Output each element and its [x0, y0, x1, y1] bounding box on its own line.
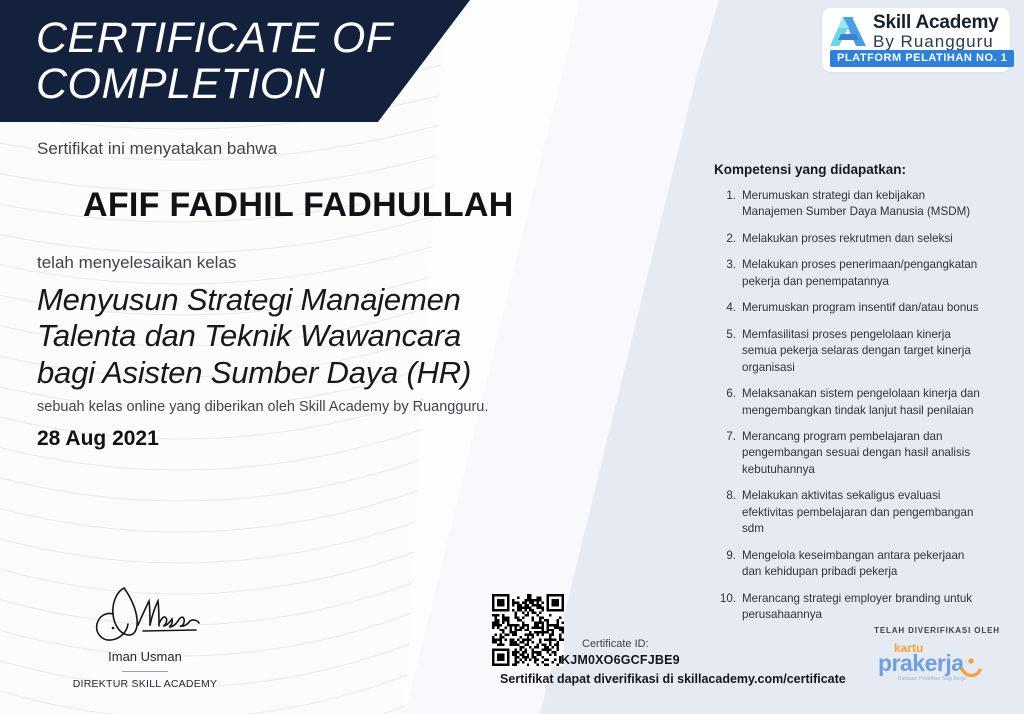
competency-text: Merumuskan program insentif dan/atau bon…	[742, 300, 982, 316]
competency-item: 2.Melakukan proses rekrutmen dan seleksi	[714, 231, 982, 247]
competency-item: 6.Melaksanakan sistem pengelolaan kinerj…	[714, 386, 982, 419]
competencies-heading: Kompetensi yang didapatkan:	[714, 162, 982, 177]
verification-text: Sertifikat dapat diverifikasi di skillac…	[500, 672, 846, 686]
competency-number: 4.	[714, 300, 742, 316]
handwritten-signature-icon	[80, 578, 210, 646]
competencies-list: 1.Merumuskan strategi dan kebijakan Mana…	[714, 188, 982, 624]
competency-text: Merumuskan strategi dan kebijakan Manaje…	[742, 188, 982, 221]
certificate-id-value: KJM0XO6GCFJBE9	[561, 653, 680, 667]
course-title: Menyusun Strategi Manajemen Talenta dan …	[37, 282, 507, 391]
prakerja-section: TELAH DIVERIFIKASI OLEH kartu prakerja B…	[862, 626, 1012, 683]
verified-by-label: TELAH DIVERIFIKASI OLEH	[862, 626, 1012, 635]
competency-number: 1.	[714, 188, 742, 221]
competency-text: Melakukan proses penerimaan/pengangkatan…	[742, 257, 982, 290]
competency-item: 3.Melakukan proses penerimaan/pengangkat…	[714, 257, 982, 290]
competency-text: Melakukan proses rekrutmen dan seleksi	[742, 231, 982, 247]
completed-label: telah menyelesaikan kelas	[37, 253, 236, 273]
signatory-role: DIREKTUR SKILL ACADEMY	[60, 678, 230, 690]
recipient-name: AFIF FADHIL FADHULLAH	[83, 186, 514, 225]
competency-item: 5.Memfasilitasi proses pengelolaan kiner…	[714, 327, 982, 376]
signature-divider	[122, 671, 168, 672]
signatory-name: Iman Usman	[60, 649, 230, 664]
competency-item: 10.Merancang strategi employer branding …	[714, 591, 982, 624]
competency-text: Merancang strategi employer branding unt…	[742, 591, 982, 624]
competency-number: 5.	[714, 327, 742, 376]
competency-number: 9.	[714, 548, 742, 581]
page-title-line2: COMPLETION	[36, 62, 456, 108]
skill-academy-a-mark-icon	[830, 15, 866, 48]
competency-text: Merancang program pembelajaran dan penge…	[742, 429, 982, 478]
competency-text: Melakukan aktivitas sekaligus evaluasi e…	[742, 488, 982, 537]
competency-number: 6.	[714, 386, 742, 419]
logo-name-line2: By Ruangguru	[873, 33, 999, 50]
page-title: CERTIFICATE OF COMPLETION	[36, 16, 456, 107]
certificate-id-label: Certificate ID:	[582, 638, 649, 650]
competency-number: 8.	[714, 488, 742, 537]
competency-text: Memfasilitasi proses pengelolaan kinerja…	[742, 327, 982, 376]
kartu-prakerja-logo-icon: kartu prakerja Bantuan Pelatihan Siap Ke…	[876, 639, 998, 683]
competency-item: 4.Merumuskan program insentif dan/atau b…	[714, 300, 982, 316]
qr-code-icon[interactable]	[492, 594, 564, 666]
svg-text:prakerja: prakerja	[878, 650, 964, 676]
platform-badge: PLATFORM PELATIHAN NO. 1	[830, 50, 1014, 67]
competency-item: 1.Merumuskan strategi dan kebijakan Mana…	[714, 188, 982, 221]
svg-text:Bantuan Pelatihan Siap Kerja: Bantuan Pelatihan Siap Kerja	[898, 676, 966, 682]
competency-item: 7.Merancang program pembelajaran dan pen…	[714, 429, 982, 478]
signature-block: Iman Usman DIREKTUR SKILL ACADEMY	[60, 578, 230, 690]
logo-row: Skill Academy By Ruangguru	[830, 13, 999, 50]
certificate-date: 28 Aug 2021	[37, 427, 159, 451]
competency-number: 3.	[714, 257, 742, 290]
competency-item: 8.Melakukan aktivitas sekaligus evaluasi…	[714, 488, 982, 537]
competency-text: Mengelola keseimbangan antara pekerjaan …	[742, 548, 982, 581]
intro-text: Sertifikat ini menyatakan bahwa	[37, 139, 277, 159]
competency-number: 2.	[714, 231, 742, 247]
certificate-page: CERTIFICATE OF COMPLETION Skill Academy …	[0, 0, 1024, 714]
page-title-line1: CERTIFICATE OF	[36, 16, 456, 62]
logo-wordmark: Skill Academy By Ruangguru	[873, 13, 999, 50]
competency-text: Melaksanakan sistem pengelolaan kinerja …	[742, 386, 982, 419]
competency-number: 7.	[714, 429, 742, 478]
skill-academy-logo-card: Skill Academy By Ruangguru PLATFORM PELA…	[822, 8, 1010, 72]
given-by-text: sebuah kelas online yang diberikan oleh …	[37, 399, 488, 415]
competency-number: 10.	[714, 591, 742, 624]
competency-item: 9.Mengelola keseimbangan antara pekerjaa…	[714, 548, 982, 581]
competencies-section: Kompetensi yang didapatkan: 1.Merumuskan…	[714, 162, 982, 634]
logo-name-line1: Skill Academy	[873, 13, 999, 32]
